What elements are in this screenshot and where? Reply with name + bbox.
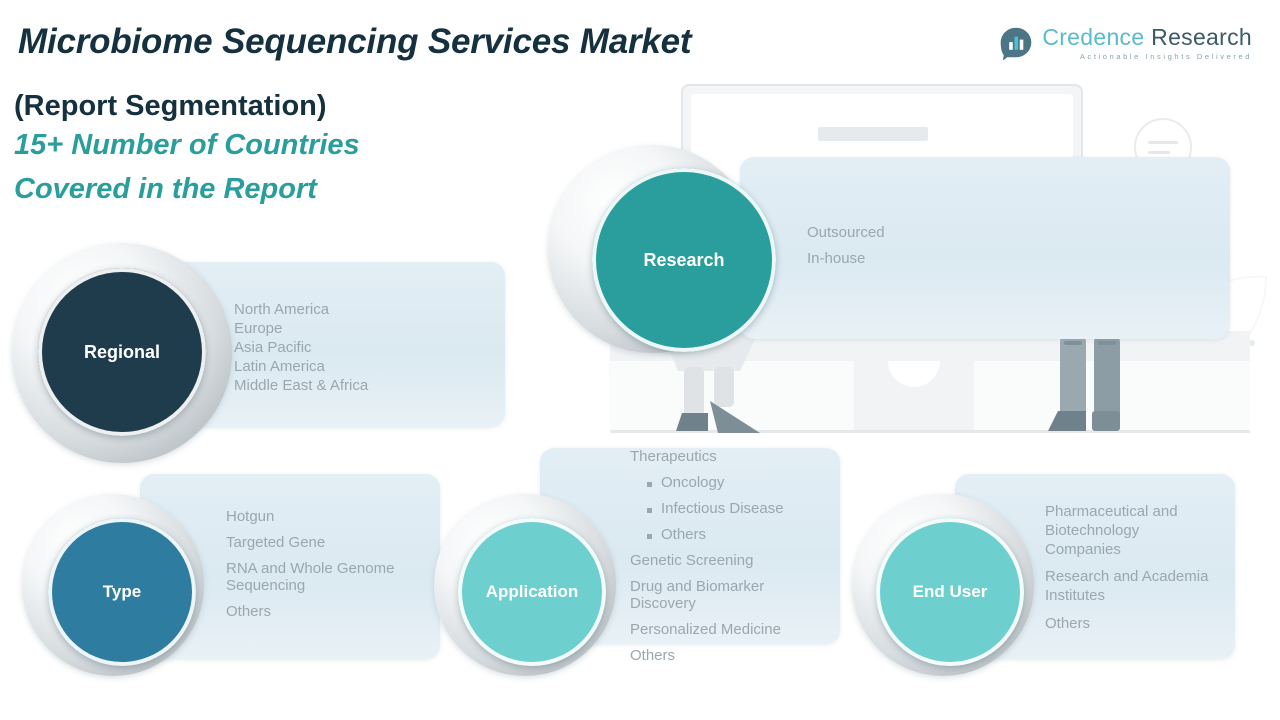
- sub-list-item-label: Oncology: [661, 474, 724, 491]
- list-item: Others: [1045, 615, 1240, 634]
- page-title: Microbiome Sequencing Services Market: [18, 22, 691, 62]
- list-item: Targeted Gene: [226, 534, 441, 551]
- type-circle[interactable]: Type: [48, 518, 196, 666]
- list-item: North America: [234, 300, 494, 319]
- list-item: Therapeutics: [630, 448, 845, 465]
- sub-list-item-label: Infectious Disease: [661, 500, 784, 517]
- research-list: Outsourced In-house: [807, 224, 1107, 276]
- list-item: In-house: [807, 250, 1107, 267]
- list-item: Genetic Screening: [630, 552, 845, 569]
- screen-title-block: [818, 127, 928, 141]
- list-item: Others: [630, 647, 845, 664]
- end-user-circle[interactable]: End User: [876, 518, 1024, 666]
- desk-body: [610, 361, 1250, 433]
- sub-list-item-label: Others: [661, 526, 706, 543]
- subtitle-countries-count: 15+ Number of Countries: [14, 129, 360, 162]
- dot-decoration: [1249, 340, 1255, 346]
- list-item: Europe: [234, 319, 494, 338]
- list-item: Middle East & Africa: [234, 376, 494, 395]
- application-label: Application: [486, 582, 579, 602]
- logo-tagline: Actionable Insights Delivered: [1042, 53, 1252, 61]
- application-list: Therapeutics Oncology Infectious Disease…: [630, 448, 845, 673]
- research-circle[interactable]: Research: [592, 168, 776, 352]
- floor-line: [610, 430, 1250, 433]
- desk-panel: [854, 361, 974, 433]
- list-item: Personalized Medicine: [630, 621, 845, 638]
- list-item: Pharmaceutical and Biotechnology Compani…: [1045, 503, 1240, 559]
- desk-arch: [888, 361, 940, 387]
- brand-logo: Credence Research Actionable Insights De…: [999, 26, 1252, 61]
- type-label: Type: [103, 582, 141, 602]
- list-item: Asia Pacific: [234, 338, 494, 357]
- subtitle-countries-covered: Covered in the Report: [14, 173, 317, 206]
- list-item: Research and Academia Institutes: [1045, 568, 1240, 606]
- infographic-page: Microbiome Sequencing Services Market (R…: [0, 0, 1280, 720]
- sub-list-item: Others: [630, 526, 845, 543]
- list-item: RNA and Whole Genome Sequencing: [226, 560, 441, 594]
- end-user-list: Pharmaceutical and Biotechnology Compani…: [1045, 503, 1240, 643]
- bullet-icon: [647, 534, 652, 539]
- logo-name-part1: Credence: [1042, 24, 1144, 50]
- subtitle-report-segmentation: (Report Segmentation): [14, 90, 327, 123]
- sub-list-item: Oncology: [630, 474, 845, 491]
- bullet-icon: [647, 482, 652, 487]
- logo-name-part2: Research: [1151, 24, 1252, 50]
- regional-label: Regional: [84, 342, 160, 363]
- list-item: Drug and Biomarker Discovery: [630, 578, 845, 612]
- research-label: Research: [643, 250, 724, 271]
- chart-bubble-icon: [999, 26, 1033, 60]
- list-item: Latin America: [234, 357, 494, 376]
- logo-wordmark: Credence Research: [1042, 26, 1252, 49]
- end-user-label: End User: [913, 582, 988, 602]
- type-list: Hotgun Targeted Gene RNA and Whole Genom…: [226, 508, 441, 629]
- list-item: Others: [226, 603, 441, 620]
- dot-decoration: [797, 372, 804, 379]
- regional-list: North America Europe Asia Pacific Latin …: [234, 300, 494, 395]
- person-right: [1048, 333, 1120, 431]
- list-item: Hotgun: [226, 508, 441, 525]
- list-item: Outsourced: [807, 224, 1107, 241]
- application-circle[interactable]: Application: [458, 518, 606, 666]
- bullet-icon: [647, 508, 652, 513]
- regional-circle[interactable]: Regional: [38, 268, 206, 436]
- dot-decoration: [992, 372, 999, 379]
- sub-list-item: Infectious Disease: [630, 500, 845, 517]
